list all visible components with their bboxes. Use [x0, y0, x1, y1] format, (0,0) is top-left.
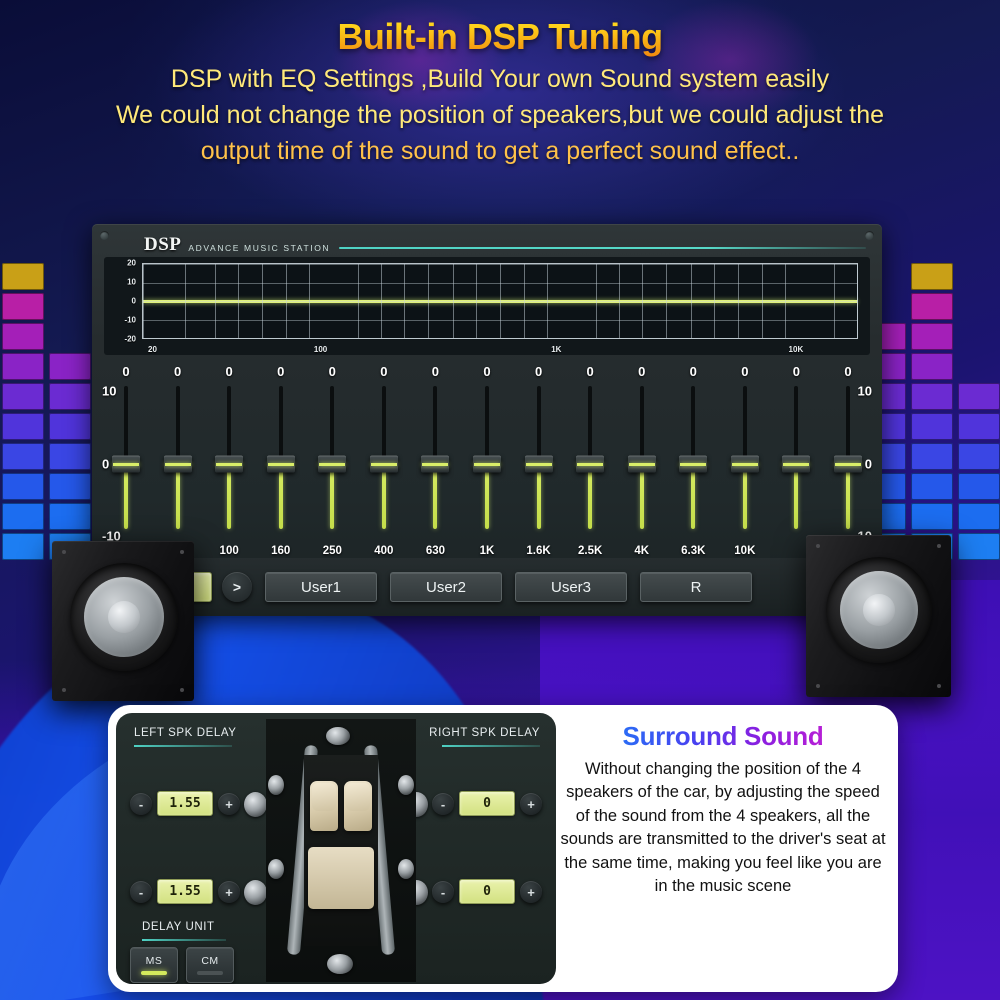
eq-slider-thumb[interactable] [679, 456, 707, 473]
eq-slider-frequency-label: 2.5K [567, 545, 613, 557]
right-front-minus-button[interactable]: - [432, 793, 454, 815]
right-rear-minus-button[interactable]: - [432, 881, 454, 903]
equalizer-block [49, 413, 91, 440]
eq-slider-band-4K[interactable]: 04K [619, 364, 665, 559]
eq-slider-frequency-label: 1K [464, 545, 510, 557]
eq-slider-band-1.6K[interactable]: 01.6K [516, 364, 562, 559]
graph-gridline-horizontal [143, 264, 857, 265]
car-seat-front-left [310, 781, 338, 831]
graph-gridline-horizontal [143, 283, 857, 284]
equalizer-block [911, 293, 953, 320]
header-line-3: output time of the sound to get a perfec… [0, 137, 1000, 166]
surround-sound-title: Surround Sound [623, 721, 824, 752]
car-interior-diagram [266, 719, 416, 982]
equalizer-bar [911, 260, 953, 560]
eq-slider-band-6.3K[interactable]: 06.3K [670, 364, 716, 559]
eq-slider-band-1K[interactable]: 01K [464, 364, 510, 559]
graph-y-tick-label: 10 [127, 278, 136, 287]
equalizer-bar [2, 260, 44, 560]
equalizer-bar [49, 350, 91, 560]
dsp-panel: DSP ADVANCE MUSIC STATION 20100-10-20 20… [92, 224, 882, 616]
eq-slider-band-x13[interactable]: 0 [773, 364, 819, 559]
equalizer-block [911, 263, 953, 290]
eq-scale-label-left-top: 10 [102, 384, 116, 399]
equalizer-bar [958, 380, 1000, 560]
minus-icon: - [139, 885, 143, 900]
speaker-driver-icon [826, 557, 932, 663]
left-delay-underline [134, 745, 232, 747]
eq-slider-value: 0 [412, 364, 458, 379]
eq-slider-thumb[interactable] [782, 456, 810, 473]
minus-icon: - [139, 797, 143, 812]
equalizer-block [49, 473, 91, 500]
speaker-delay-panel: LEFT SPK DELAY RIGHT SPK DELAY - 1.55 + … [116, 713, 556, 984]
surround-sound-text: Surround Sound Without changing the posi… [558, 713, 888, 984]
equalizer-block [2, 473, 44, 500]
eq-slider-frequency-label: 6.3K [670, 545, 716, 557]
eq-slider-frequency-label: 1.6K [516, 545, 562, 557]
dsp-subtitle: ADVANCE MUSIC STATION [188, 244, 330, 255]
header: Built-in DSP Tuning DSP with EQ Settings… [0, 0, 1000, 166]
equalizer-block [49, 443, 91, 470]
preset-label: R [691, 579, 702, 596]
eq-slider-value: 0 [825, 364, 871, 379]
right-front-plus-button[interactable]: + [520, 793, 542, 815]
eq-slider-fill [743, 463, 747, 529]
preset-button-user2[interactable]: User2 [390, 572, 502, 602]
eq-slider-fill [176, 463, 180, 529]
equalizer-block [958, 503, 1000, 530]
right-front-delay-value: 0 [483, 796, 491, 811]
car-seat-backrest [346, 783, 370, 811]
equalizer-block [2, 353, 44, 380]
speaker-screw-icon [937, 544, 941, 548]
eq-scale-label-right-top: 10 [858, 384, 872, 399]
delay-unit-ms-label: MS [146, 955, 163, 967]
speaker-dust-cap [108, 601, 140, 633]
eq-slider-fill [124, 463, 128, 529]
graph-gridline-horizontal [143, 338, 857, 339]
preset-button-user1[interactable]: User1 [265, 572, 377, 602]
eq-slider-fill [382, 463, 386, 529]
eq-slider-value: 0 [773, 364, 819, 379]
eq-slider-frequency-label: 630 [412, 545, 458, 557]
delay-unit-underline [142, 939, 226, 941]
eq-slider-fill [794, 463, 798, 529]
eq-graph-plot[interactable] [142, 263, 858, 339]
right-rear-delay-display[interactable]: 0 [459, 879, 515, 904]
equalizer-block [2, 533, 44, 560]
left-front-plus-button[interactable]: + [218, 793, 240, 815]
eq-slider-value: 0 [258, 364, 304, 379]
equalizer-block [2, 323, 44, 350]
equalizer-block [958, 443, 1000, 470]
eq-graph-panel: 20100-10-20 201001K10K [104, 257, 870, 355]
eq-slider-thumb[interactable] [525, 456, 553, 473]
next-preset-button[interactable]: > [222, 572, 252, 602]
plus-icon: + [527, 797, 535, 812]
speaker-screw-icon [62, 550, 66, 554]
eq-slider-value: 0 [619, 364, 665, 379]
preset-button-reset[interactable]: R [640, 572, 752, 602]
eq-slider-frequency-label: 10K [722, 545, 768, 557]
left-front-minus-button[interactable]: - [130, 793, 152, 815]
equalizer-block [2, 293, 44, 320]
graph-x-tick-label: 10K [789, 345, 804, 354]
equalizer-block [911, 353, 953, 380]
plus-icon: + [527, 885, 535, 900]
chevron-right-icon: > [233, 579, 241, 595]
minus-icon: - [441, 885, 445, 900]
eq-slider-band-10K[interactable]: 010K [722, 364, 768, 559]
graph-x-tick-label: 20 [148, 345, 157, 354]
speaker-screw-icon [816, 544, 820, 548]
speaker-cone [840, 571, 918, 649]
speaker-screw-icon [937, 684, 941, 688]
graph-x-tick-label: 1K [551, 345, 561, 354]
right-rear-plus-button[interactable]: + [520, 881, 542, 903]
car-speaker-front-left-icon [268, 775, 284, 795]
preset-bar: CUSTOM > User1 User2 User3 R [92, 558, 882, 616]
eq-slider-thumb[interactable] [576, 456, 604, 473]
car-seat-rear-bench [308, 847, 374, 909]
equalizer-block [958, 533, 1000, 560]
car-seat-backrest [312, 783, 336, 811]
eq-slider-thumb[interactable] [112, 456, 140, 473]
delay-unit-label: DELAY UNIT [142, 921, 215, 933]
eq-slider-frequency-label: 160 [258, 545, 304, 557]
speaker-right [806, 535, 951, 697]
equalizer-block [2, 443, 44, 470]
eq-slider-value: 0 [309, 364, 355, 379]
speaker-cone [84, 577, 164, 657]
graph-gridline-horizontal [143, 301, 857, 302]
left-rear-delay-display[interactable]: 1.55 [157, 879, 213, 904]
left-rear-plus-button[interactable]: + [218, 881, 240, 903]
eq-slider-band-160[interactable]: 0160 [258, 364, 304, 559]
eq-slider-fill [691, 463, 695, 529]
left-front-delay-value: 1.55 [169, 796, 200, 811]
minus-icon: - [441, 797, 445, 812]
eq-slider-thumb[interactable] [628, 456, 656, 473]
graph-gridline-vertical [857, 264, 858, 338]
header-line-1: DSP with EQ Settings ,Build Your own Sou… [0, 65, 1000, 94]
equalizer-block [2, 263, 44, 290]
car-speaker-subwoofer-icon [327, 954, 353, 974]
speaker-screw-icon [816, 684, 820, 688]
plus-icon: + [225, 885, 233, 900]
car-speaker-rear-right-icon [398, 859, 414, 879]
eq-slider-thumb[interactable] [473, 456, 501, 473]
surround-sound-body: Without changing the position of the 4 s… [558, 758, 888, 899]
equalizer-block [911, 383, 953, 410]
right-front-delay-display[interactable]: 0 [459, 791, 515, 816]
equalizer-block [911, 473, 953, 500]
eq-slider-thumb[interactable] [267, 456, 295, 473]
eq-graph-y-axis: 20100-10-20 [110, 263, 136, 339]
speaker-screw-icon [180, 550, 184, 554]
equalizer-block [911, 443, 953, 470]
eq-slider-frequency-label: 4K [619, 545, 665, 557]
equalizer-block [911, 323, 953, 350]
left-rear-speaker-icon [244, 880, 267, 905]
speaker-screw-icon [180, 688, 184, 692]
right-delay-label: RIGHT SPK DELAY [429, 727, 540, 739]
left-rear-delay-value: 1.55 [169, 884, 200, 899]
equalizer-block [49, 503, 91, 530]
preset-label: User1 [301, 579, 341, 596]
eq-slider-band-250[interactable]: 0250 [309, 364, 355, 559]
dsp-header: DSP ADVANCE MUSIC STATION [92, 228, 882, 254]
eq-slider-group: 0400630100016002500400063001K01.6K02.5K0… [104, 364, 870, 559]
eq-slider-thumb[interactable] [370, 456, 398, 473]
equalizer-block [958, 413, 1000, 440]
eq-scale-label-right-mid: 0 [865, 457, 872, 472]
eq-slider-fill [537, 463, 541, 529]
preset-button-user3[interactable]: User3 [515, 572, 627, 602]
delay-unit-cm-led [197, 971, 223, 975]
preset-label: User2 [426, 579, 466, 596]
car-speaker-front-right-icon [398, 775, 414, 795]
eq-slider-fill [330, 463, 334, 529]
left-rear-minus-button[interactable]: - [130, 881, 152, 903]
eq-slider-frequency-label: 400 [361, 545, 407, 557]
car-speaker-front-center-icon [326, 727, 350, 745]
plus-icon: + [225, 797, 233, 812]
eq-slider-band-630[interactable]: 0630 [412, 364, 458, 559]
equalizer-block [2, 383, 44, 410]
eq-slider-thumb[interactable] [731, 456, 759, 473]
delay-unit-ms-led [141, 971, 167, 975]
eq-slider-fill [846, 463, 850, 529]
eq-slider-value: 0 [464, 364, 510, 379]
eq-slider-thumb[interactable] [215, 456, 243, 473]
page-title: Built-in DSP Tuning [0, 0, 1000, 58]
delay-unit-cm-button[interactable]: CM [186, 947, 234, 983]
eq-slider-value: 0 [722, 364, 768, 379]
speaker-dust-cap [863, 594, 894, 625]
surround-sound-card: LEFT SPK DELAY RIGHT SPK DELAY - 1.55 + … [108, 705, 898, 992]
speaker-driver-icon [70, 563, 178, 671]
eq-slider-frequency-label: 250 [309, 545, 355, 557]
preset-label: User3 [551, 579, 591, 596]
graph-y-tick-label: -20 [124, 335, 136, 344]
equalizer-block [49, 353, 91, 380]
equalizer-block [958, 473, 1000, 500]
eq-slider-thumb[interactable] [318, 456, 346, 473]
eq-slider-frequency-label: 100 [206, 545, 252, 557]
right-rear-delay-value: 0 [483, 884, 491, 899]
eq-slider-band-63[interactable]: 063 [155, 364, 201, 559]
speaker-left [52, 541, 194, 701]
graph-y-tick-label: -10 [124, 316, 136, 325]
car-speaker-rear-left-icon [268, 859, 284, 879]
equalizer-block [2, 413, 44, 440]
speaker-screw-icon [62, 688, 66, 692]
graph-y-tick-label: 20 [127, 259, 136, 268]
eq-slider-fill [227, 463, 231, 529]
eq-slider-value: 0 [361, 364, 407, 379]
car-seat-front-right [344, 781, 372, 831]
left-delay-label: LEFT SPK DELAY [134, 727, 237, 739]
eq-slider-value: 0 [206, 364, 252, 379]
delay-unit-cm-label: CM [201, 955, 218, 967]
eq-slider-band-2.5K[interactable]: 02.5K [567, 364, 613, 559]
eq-slider-value: 0 [103, 364, 149, 379]
left-front-delay-display[interactable]: 1.55 [157, 791, 213, 816]
equalizer-block [911, 503, 953, 530]
eq-slider-fill [640, 463, 644, 529]
eq-slider-fill [588, 463, 592, 529]
eq-slider-thumb[interactable] [834, 456, 862, 473]
dsp-header-rule [339, 247, 866, 249]
eq-scale-label-left-mid: 0 [102, 457, 109, 472]
equalizer-block [2, 503, 44, 530]
equalizer-block [911, 413, 953, 440]
eq-slider-fill [279, 463, 283, 529]
eq-slider-value: 0 [516, 364, 562, 379]
equalizer-block [958, 383, 1000, 410]
eq-slider-band-100[interactable]: 0100 [206, 364, 252, 559]
dsp-logo: DSP [144, 235, 181, 254]
right-delay-underline [442, 745, 540, 747]
eq-slider-band-400[interactable]: 0400 [361, 364, 407, 559]
eq-slider-value: 0 [155, 364, 201, 379]
graph-x-tick-label: 100 [314, 345, 327, 354]
delay-unit-ms-button[interactable]: MS [130, 947, 178, 983]
eq-slider-fill [433, 463, 437, 529]
left-front-speaker-icon [244, 792, 267, 817]
graph-y-tick-label: 0 [132, 297, 136, 306]
graph-gridline-horizontal [143, 320, 857, 321]
eq-slider-thumb[interactable] [164, 456, 192, 473]
eq-slider-value: 0 [670, 364, 716, 379]
eq-slider-value: 0 [567, 364, 613, 379]
equalizer-block [49, 383, 91, 410]
eq-slider-thumb[interactable] [421, 456, 449, 473]
header-line-2: We could not change the position of spea… [0, 101, 1000, 130]
eq-slider-fill [485, 463, 489, 529]
